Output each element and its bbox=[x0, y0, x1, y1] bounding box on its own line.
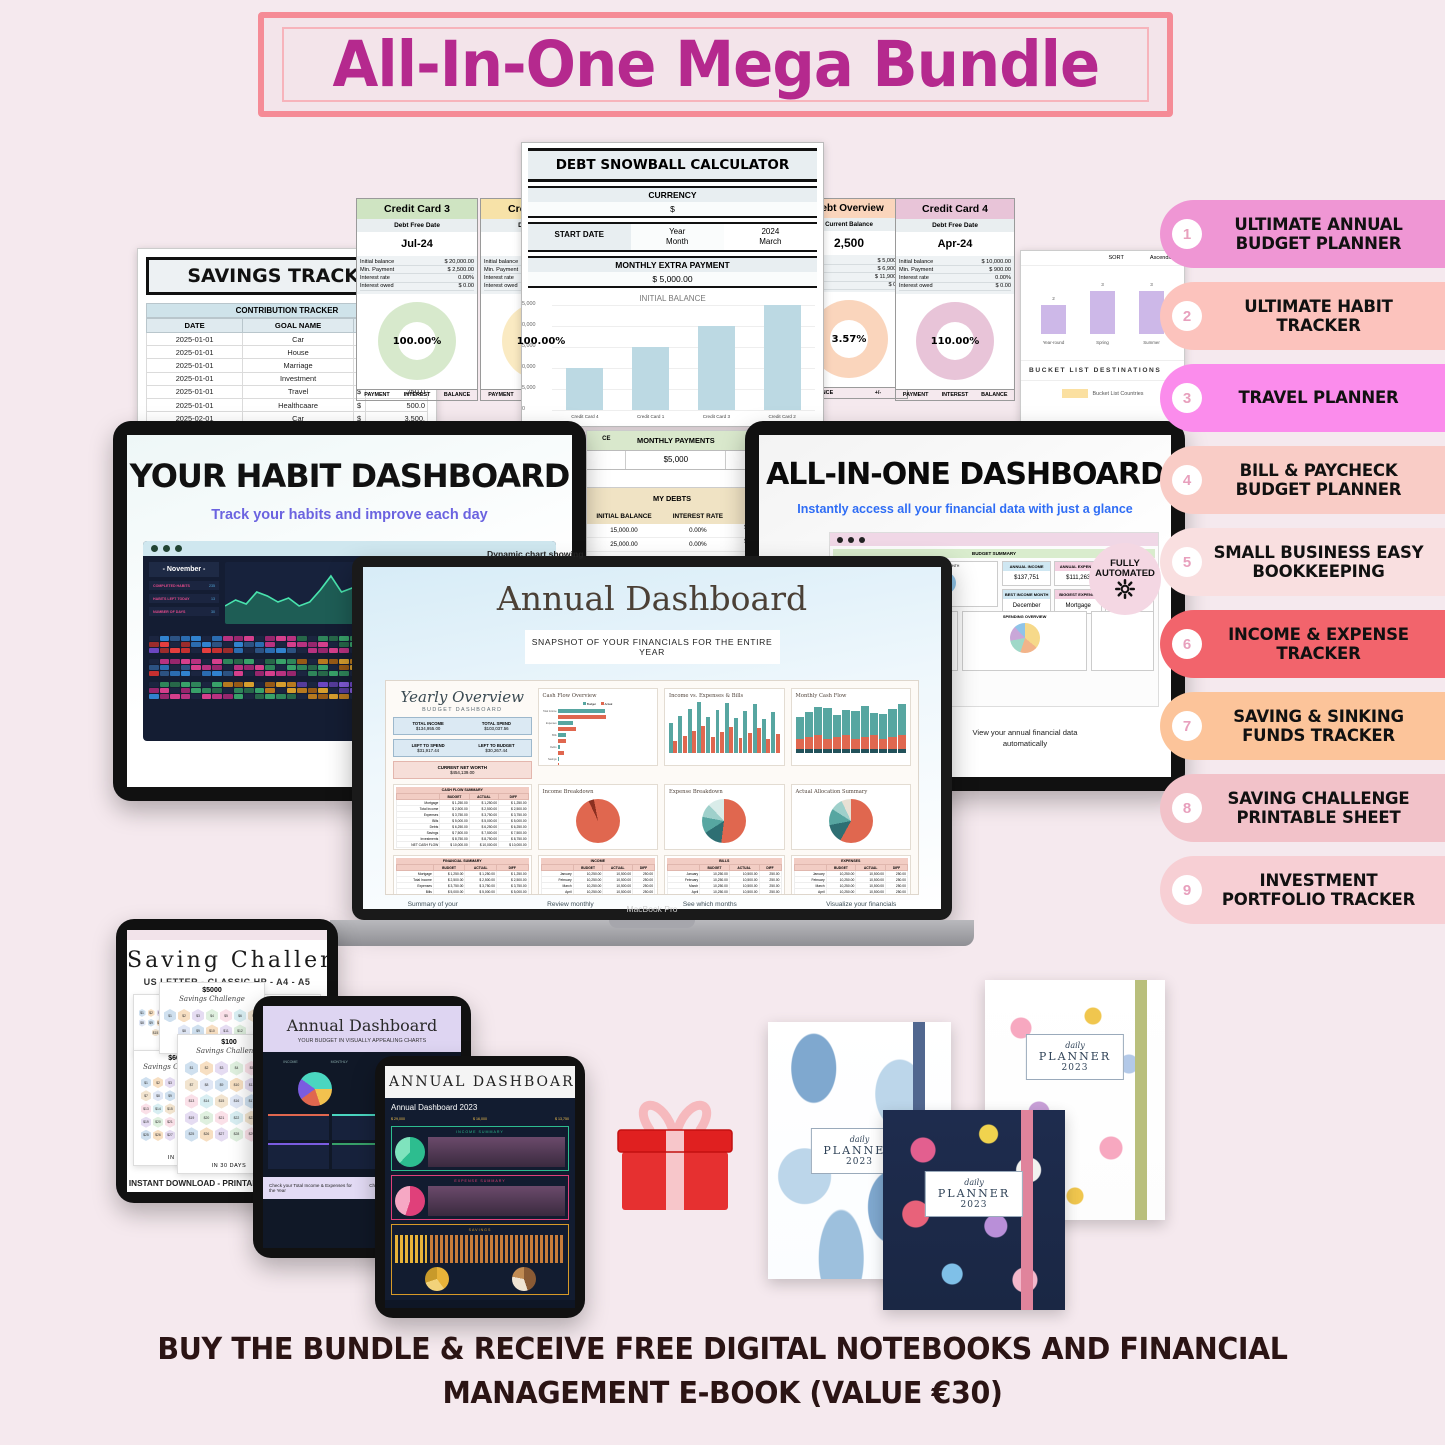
seg-income bbox=[842, 710, 850, 735]
kpi-total-spend-value: $103,037.56 bbox=[484, 726, 508, 731]
cell: $ 5,000.00 bbox=[465, 889, 497, 895]
product-item-8[interactable]: 8SAVING CHALLENGE PRINTABLE SHEET bbox=[1160, 774, 1445, 842]
saving-challenge-title: Saving Challenge bbox=[127, 948, 327, 973]
bar-expense bbox=[757, 728, 761, 753]
notebook-white-label: daily PLANNER 2023 bbox=[1026, 1034, 1124, 1080]
seg-income bbox=[870, 713, 878, 735]
bar-income bbox=[762, 719, 766, 753]
heatmap-cell bbox=[329, 682, 339, 687]
heatmap-cell bbox=[339, 694, 349, 699]
heatmap-cell bbox=[202, 694, 212, 699]
heatmap-cell bbox=[234, 659, 244, 664]
cc-detail-label: Interest owed bbox=[360, 283, 394, 289]
seg-debt bbox=[898, 749, 906, 753]
heatmap-cell bbox=[212, 636, 222, 641]
product-label-4: BILL & PAYCHECK BUDGET PLANNER bbox=[1212, 461, 1431, 500]
heatmap-cell bbox=[339, 642, 349, 647]
heatmap-cell bbox=[212, 648, 222, 653]
bucket-legend-label: Bucket List Countries bbox=[1093, 391, 1144, 397]
heatmap-cell bbox=[308, 671, 318, 676]
heatmap-cell bbox=[265, 688, 275, 693]
cc-detail-label: Interest owed bbox=[899, 283, 933, 289]
hex-cell: $8 bbox=[200, 1078, 213, 1093]
habit-stat-2: HABITS LEFT TODAY13 bbox=[149, 594, 219, 603]
product-tab-shadow bbox=[1138, 213, 1168, 255]
aio-dot-2 bbox=[848, 537, 854, 543]
cc-detail-label: Min. Payment bbox=[899, 267, 933, 273]
hex-cell: $27 bbox=[215, 1127, 228, 1142]
bar-expense bbox=[729, 727, 733, 753]
cc4-donut: 110.00% bbox=[916, 302, 994, 380]
gridline: 0 bbox=[552, 410, 815, 411]
stacked-bar bbox=[823, 708, 831, 753]
hbar-label: Expenses bbox=[543, 722, 557, 725]
sheet-5000-label: Savings Challenge bbox=[160, 995, 264, 1003]
monthly-payments-value: $5,000 bbox=[626, 451, 726, 469]
heatmap-cell bbox=[276, 688, 286, 693]
bar-expense bbox=[766, 739, 770, 753]
cc4-percent: 110.00% bbox=[931, 336, 980, 347]
bar: Credit Card 2 bbox=[764, 305, 801, 410]
habit-bar: 2Year-round bbox=[1041, 305, 1066, 334]
heatmap-cell bbox=[149, 682, 159, 687]
initial-balance-col: INITIAL BALANCE bbox=[587, 509, 661, 524]
bar-income bbox=[678, 716, 682, 753]
product-item-2[interactable]: 2ULTIMATE HABIT TRACKER bbox=[1160, 282, 1445, 350]
heatmap-cell bbox=[234, 636, 244, 641]
heatmap-cell bbox=[191, 648, 201, 653]
cc-detail-row: Min. Payment$ 900.00 bbox=[899, 266, 1011, 274]
cc-detail-value: $ 10,000.00 bbox=[981, 259, 1011, 265]
my-debts-rows: 15,000.000.00%$25,000.000.00%$ bbox=[587, 524, 757, 552]
product-item-4[interactable]: 4BILL & PAYCHECK BUDGET PLANNER bbox=[1160, 446, 1445, 514]
product-label-6: INCOME & EXPENSE TRACKER bbox=[1212, 625, 1431, 664]
bar-income bbox=[771, 712, 775, 753]
heatmap-cell bbox=[244, 648, 254, 653]
aio-window-titlebar bbox=[830, 533, 1158, 546]
hex-cell: $1 bbox=[164, 1009, 176, 1022]
seg-income bbox=[814, 707, 822, 735]
nb2-brand: daily bbox=[938, 1178, 1010, 1187]
heatmap-cell bbox=[297, 682, 307, 687]
cc3-payment-col: PAYMENT bbox=[357, 390, 397, 400]
product-item-7[interactable]: 7SAVING & SINKING FUNDS TRACKER bbox=[1160, 692, 1445, 760]
heatmap-cell bbox=[234, 642, 244, 647]
cell-goal: House bbox=[243, 346, 354, 359]
cell-goal: Car bbox=[243, 333, 354, 346]
hex-cell: $15 bbox=[152, 1029, 159, 1037]
heatmap-cell bbox=[308, 688, 318, 693]
hex-cell: $9 bbox=[165, 1090, 175, 1101]
heatmap-cell bbox=[287, 648, 297, 653]
hex-cell: $26 bbox=[200, 1127, 213, 1142]
hex-cell: $10 bbox=[230, 1078, 243, 1093]
dark-tile bbox=[268, 1114, 329, 1140]
window-dot-yellow bbox=[163, 545, 170, 552]
cc-detail-label: Min. Payment bbox=[360, 267, 394, 273]
panel-cash-flow-overview: Cash Flow Overview Budget ActualTotal In… bbox=[538, 688, 658, 766]
panel-expense-breakdown: Expense Breakdown bbox=[664, 784, 784, 850]
heatmap-cell bbox=[191, 694, 201, 699]
product-number-2: 2 bbox=[1172, 301, 1202, 331]
cc-detail-label: Interest rate bbox=[484, 275, 514, 281]
page-title: All-In-One Mega Bundle bbox=[332, 28, 1099, 101]
bar-expense bbox=[720, 732, 724, 753]
dark-tile bbox=[268, 1143, 329, 1169]
dark-tablet-1-head: Annual Dashboard YOUR BUDGET IN VISUALLY… bbox=[263, 1006, 461, 1052]
heatmap-cell bbox=[149, 642, 159, 647]
credit-card-3: Credit Card 3 Debt Free Date Jul-24 Init… bbox=[356, 198, 478, 401]
dk1-kpi-2: MONTHLY bbox=[331, 1060, 348, 1064]
heatmap-cell bbox=[170, 682, 180, 687]
heatmap-cell bbox=[202, 682, 212, 687]
cell: $ 10,000.00 bbox=[499, 842, 528, 848]
habit-dashboard-title: YOUR HABIT DASHBOARD bbox=[127, 457, 572, 495]
heatmap-cell bbox=[297, 688, 307, 693]
heatmap-cell bbox=[223, 648, 233, 653]
bar-income bbox=[688, 709, 692, 753]
currency-value[interactable]: $ bbox=[528, 202, 817, 216]
seg-expense bbox=[842, 735, 850, 749]
month-value[interactable]: March bbox=[724, 237, 817, 247]
dk2-savings-bars bbox=[395, 1235, 427, 1263]
heatmap-cell bbox=[329, 688, 339, 693]
seg-income bbox=[888, 709, 896, 737]
heatmap-cell bbox=[297, 648, 307, 653]
cc4-pay-header: PAYMENT INTEREST BALANCE bbox=[895, 390, 1015, 401]
year-month-labels: Year Month bbox=[631, 224, 724, 250]
seg-income bbox=[823, 708, 831, 739]
macbook-screen: Annual Dashboard SNAPSHOT OF YOUR FINANC… bbox=[363, 567, 941, 909]
product-item-1[interactable]: 1ULTIMATE ANNUAL BUDGET PLANNER bbox=[1160, 200, 1445, 268]
col-goal: GOAL NAME bbox=[243, 319, 354, 333]
bar-expense bbox=[776, 734, 780, 753]
heatmap-cell bbox=[223, 688, 233, 693]
heatmap-cell bbox=[318, 642, 328, 647]
heatmap-cell bbox=[223, 694, 233, 699]
heatmap-cell bbox=[170, 642, 180, 647]
hex-cell: $7 bbox=[141, 1090, 151, 1101]
heatmap-cell bbox=[318, 659, 328, 664]
heatmap-cell bbox=[255, 648, 265, 653]
heatmap-cell bbox=[339, 648, 349, 653]
debt-interest-rate: 0.00% bbox=[661, 538, 735, 551]
bar-group bbox=[753, 704, 761, 753]
panel-allocation-title: Actual Allocation Summary bbox=[796, 789, 906, 795]
heatmap-cell bbox=[170, 665, 180, 670]
heatmap-cell bbox=[223, 642, 233, 647]
heatmap-cell bbox=[191, 659, 201, 664]
annual-dashboard-sheet: Yearly Overview BUDGET DASHBOARD TOTAL I… bbox=[385, 680, 919, 895]
seg-income bbox=[805, 712, 813, 737]
cash-flow-summary-table: CASH FLOW SUMMARY BUDGETACTUALDIFFMortga… bbox=[393, 784, 532, 850]
extra-payment-band: MONTHLY EXTRA PAYMENT $ 5,000.00 bbox=[528, 256, 817, 288]
heatmap-cell bbox=[329, 648, 339, 653]
dk2-kpi: $ 16,000 bbox=[473, 1117, 487, 1121]
hex-cell: $20 bbox=[200, 1111, 213, 1126]
product-list: 1ULTIMATE ANNUAL BUDGET PLANNER2ULTIMATE… bbox=[1160, 200, 1445, 938]
heatmap-cell bbox=[318, 665, 328, 670]
heatmap-cell bbox=[170, 671, 180, 676]
heatmap-cell bbox=[276, 682, 286, 687]
heatmap-cell bbox=[276, 659, 286, 664]
cc-detail-row: Initial balance$ 20,000.00 bbox=[360, 258, 474, 266]
heatmap-cell bbox=[255, 665, 265, 670]
bucket-legend-swatch bbox=[1062, 389, 1088, 398]
dk2-income-area bbox=[428, 1137, 565, 1167]
cell-date: 2025-01-01 bbox=[147, 385, 243, 398]
panel-actual-allocation: Actual Allocation Summary bbox=[791, 784, 911, 850]
heatmap-cell bbox=[297, 636, 307, 641]
stacked-bar bbox=[814, 707, 822, 753]
cell: Bills bbox=[397, 889, 434, 895]
heatmap-cell bbox=[160, 688, 170, 693]
hex-cell: $19 bbox=[141, 1117, 151, 1128]
cc4-sub: Debt Free Date bbox=[896, 219, 1014, 232]
heatmap-cell bbox=[202, 659, 212, 664]
heatmap-cell bbox=[244, 694, 254, 699]
heatmap-cell bbox=[339, 659, 349, 664]
cell: $ 5,000.00 bbox=[496, 889, 528, 895]
hex-cell: $27 bbox=[165, 1130, 175, 1141]
hex-cell: $21 bbox=[165, 1117, 175, 1128]
heatmap-cell bbox=[212, 665, 222, 670]
balance-col-label: CE bbox=[587, 431, 626, 450]
heatmap-cell bbox=[212, 659, 222, 664]
product-item-3[interactable]: 3TRAVEL PLANNER bbox=[1160, 364, 1445, 432]
heatmap-cell bbox=[244, 659, 254, 664]
seg-income bbox=[851, 711, 859, 739]
heatmap-cell bbox=[223, 682, 233, 687]
bar: Credit Card 4 bbox=[566, 368, 603, 410]
nb2-name: PLANNER bbox=[938, 1187, 1010, 1200]
annual-dashboard-title: Annual Dashboard bbox=[363, 579, 941, 618]
heatmap-cell bbox=[181, 642, 191, 647]
kpi-row-2: LEFT TO SPEND$31,917.44 LEFT TO BUDGET$3… bbox=[393, 739, 532, 757]
hex-cell: $13 bbox=[141, 1103, 151, 1114]
heatmap-cell bbox=[318, 648, 328, 653]
heatmap-cell bbox=[255, 671, 265, 676]
panel-income-vs-expenses: Income vs. Expenses & Bills bbox=[664, 688, 784, 766]
heatmap-cell bbox=[308, 642, 318, 647]
panel-monthly-cf-title: Monthly Cash Flow bbox=[796, 693, 906, 699]
heatmap-cell bbox=[308, 682, 318, 687]
heatmap-cell bbox=[318, 636, 328, 641]
heatmap-cell bbox=[181, 694, 191, 699]
heatmap-cell bbox=[234, 671, 244, 676]
bar-income bbox=[706, 717, 710, 753]
habit-dashboard-subtitle: Track your habits and improve each day bbox=[127, 507, 572, 523]
initial-balance-chart: 5,0000,0005,0000,0005,0000Credit Card 4C… bbox=[552, 305, 815, 410]
year-value[interactable]: 2024 bbox=[724, 227, 817, 237]
bar-group bbox=[706, 717, 714, 753]
product-item-5[interactable]: 5SMALL BUSINESS EASY BOOKKEEPING bbox=[1160, 528, 1445, 596]
dk2-pie-1 bbox=[425, 1267, 449, 1291]
bar-group bbox=[762, 719, 770, 753]
heatmap-cell bbox=[234, 665, 244, 670]
product-label-2: ULTIMATE HABIT TRACKER bbox=[1212, 297, 1431, 336]
expenses-table: EXPENSES BUDGETACTUALDIFFJanuary10,250.0… bbox=[791, 855, 911, 895]
product-item-9[interactable]: 9INVESTMENT PORTFOLIO TRACKER bbox=[1160, 856, 1445, 924]
hex-cell: $5 bbox=[220, 1009, 232, 1022]
macbook-body: Annual Dashboard SNAPSHOT OF YOUR FINANC… bbox=[352, 556, 952, 920]
col-date: DATE bbox=[147, 319, 243, 333]
heatmap-cell bbox=[149, 665, 159, 670]
cc-detail-row: Initial balance$ 10,000.00 bbox=[899, 258, 1011, 266]
heatmap-cell bbox=[181, 636, 191, 641]
heatmap-cell bbox=[329, 636, 339, 641]
kpi-left-to-spend: LEFT TO SPEND$31,917.44 bbox=[394, 740, 462, 756]
panel-monthly-cash-flow: Monthly Cash Flow bbox=[791, 688, 911, 766]
hbar-label: Debts bbox=[543, 746, 557, 749]
seg-expense bbox=[805, 737, 813, 749]
heatmap-cell bbox=[181, 665, 191, 670]
heatmap-cell bbox=[212, 671, 222, 676]
hex-cell: $9 bbox=[215, 1078, 228, 1093]
seg-expense bbox=[814, 735, 822, 749]
year-month-values[interactable]: 2024 March bbox=[724, 224, 817, 250]
heatmap-cell bbox=[255, 694, 265, 699]
heatmap-cell bbox=[297, 671, 307, 676]
heatmap-cell bbox=[223, 665, 233, 670]
seg-debt bbox=[796, 749, 804, 753]
seg-debt bbox=[870, 749, 878, 753]
seg-debt bbox=[823, 749, 831, 753]
hbar-label: Bills bbox=[543, 734, 557, 737]
heatmap-cell bbox=[181, 688, 191, 693]
heatmap-cell bbox=[339, 671, 349, 676]
seg-expense bbox=[851, 739, 859, 749]
heatmap-cell bbox=[212, 642, 222, 647]
hex-cell: $2 bbox=[178, 1009, 190, 1022]
heatmap-cell bbox=[244, 688, 254, 693]
fully-automated-badge: FULLY AUTOMATED bbox=[1089, 543, 1161, 615]
cell: $ 10,000.00 bbox=[440, 842, 469, 848]
seg-expense bbox=[823, 739, 831, 749]
product-label-3: TRAVEL PLANNER bbox=[1212, 388, 1431, 407]
cell-goal: Healthcaare bbox=[243, 398, 354, 411]
aio-dot-3 bbox=[859, 537, 865, 543]
bar-group bbox=[688, 709, 696, 753]
dark-tablet-1-title: Annual Dashboard bbox=[269, 1016, 455, 1035]
product-number-7: 7 bbox=[1172, 711, 1202, 741]
product-number-8: 8 bbox=[1172, 793, 1202, 823]
extra-payment-value[interactable]: $ 5,000.00 bbox=[528, 272, 817, 286]
y-tick-label: 0,000 bbox=[522, 322, 536, 328]
heatmap-cell bbox=[149, 671, 159, 676]
bar-group bbox=[743, 711, 751, 753]
cell-date: 2025-01-01 bbox=[147, 398, 243, 411]
dk2-pie-2 bbox=[512, 1267, 536, 1291]
heatmap-cell bbox=[329, 665, 339, 670]
cc3-sub: Debt Free Date bbox=[357, 219, 477, 232]
product-item-6[interactable]: 6INCOME & EXPENSE TRACKER bbox=[1160, 610, 1445, 678]
dk2-savings-bars-2 bbox=[430, 1235, 565, 1263]
bar-expense bbox=[692, 731, 696, 753]
table-row: Bills$ 5,000.00$ 5,000.00$ 5,000.00 bbox=[397, 889, 529, 895]
hex-cell: $22 bbox=[230, 1111, 243, 1126]
cc-detail-row: Interest owed$ 0.00 bbox=[360, 283, 474, 291]
product-label-5: SMALL BUSINESS EASY BOOKKEEPING bbox=[1212, 543, 1431, 582]
cc4-name: Credit Card 4 bbox=[896, 199, 1014, 219]
cell: $ 5,000.00 bbox=[433, 889, 465, 895]
heatmap-cell bbox=[276, 694, 286, 699]
aio-note-right: View your annual financial data automati… bbox=[965, 728, 1085, 749]
hbar-actual bbox=[558, 739, 566, 743]
cc4-balance-col: BALANCE bbox=[975, 390, 1014, 400]
heatmap-cell bbox=[149, 659, 159, 664]
heatmap-cell bbox=[191, 682, 201, 687]
heatmap-cell bbox=[149, 648, 159, 653]
hex-cell: $28 bbox=[230, 1127, 243, 1142]
heatmap-cell bbox=[191, 665, 201, 670]
aio-dot-1 bbox=[837, 537, 843, 543]
heatmap-cell bbox=[160, 665, 170, 670]
bar-income bbox=[697, 702, 701, 753]
heatmap-cell bbox=[212, 682, 222, 687]
cc4-payment-col: PAYMENT bbox=[896, 390, 935, 400]
dk2-savings-section: SAVINGS bbox=[395, 1228, 565, 1232]
dark-tablet-1-subtitle: YOUR BUDGET IN VISUALLY APPEALING CHARTS bbox=[269, 1038, 455, 1044]
cell: NET CASH FLOW bbox=[397, 842, 440, 848]
heatmap-cell bbox=[255, 659, 265, 664]
product-number-1: 1 bbox=[1172, 219, 1202, 249]
bar-group bbox=[716, 710, 724, 753]
bar-expense bbox=[739, 738, 743, 753]
nb3-year: 2023 bbox=[1039, 1063, 1111, 1073]
heatmap-cell bbox=[329, 671, 339, 676]
heatmap-cell bbox=[170, 688, 180, 693]
dark-annual-dashboard-tablet-2: ANNUAL DASHBOARD Annual Dashboard 2023 $… bbox=[375, 1056, 585, 1318]
seg-expense bbox=[879, 739, 887, 749]
cc-detail-label: Interest rate bbox=[899, 275, 929, 281]
kpi-row-1: TOTAL INCOME$134,955.00 TOTAL SPEND$103,… bbox=[393, 717, 532, 735]
stacked-bar bbox=[888, 709, 896, 753]
hbar-budget bbox=[558, 709, 605, 713]
heatmap-cell bbox=[276, 671, 286, 676]
cc-detail-value: $ 0.00 bbox=[995, 283, 1011, 289]
heatmap-cell bbox=[287, 665, 297, 670]
heatmap-cell bbox=[234, 688, 244, 693]
stacked-bar bbox=[879, 714, 887, 753]
bar-expense bbox=[673, 741, 677, 753]
notebook-white-band bbox=[1135, 980, 1147, 1220]
hex-cell: $15 bbox=[165, 1103, 175, 1114]
initial-balance-chart-title: INITIAL BALANCE bbox=[522, 294, 823, 303]
aio-kpi-label: BEST INCOME MONTH bbox=[1003, 590, 1050, 599]
product-number-6: 6 bbox=[1172, 629, 1202, 659]
habit-mini-chart: 2Year-round3Spring3Summer bbox=[1029, 276, 1176, 346]
stacked-bar bbox=[833, 715, 841, 753]
income-breakdown-pie bbox=[576, 799, 620, 843]
seg-expense bbox=[861, 737, 869, 749]
hex-cell: $19 bbox=[185, 1111, 198, 1126]
seg-debt bbox=[814, 749, 822, 753]
cell-date: 2025-01-01 bbox=[147, 359, 243, 372]
bar-group bbox=[725, 703, 733, 753]
bar: Credit Card 1 bbox=[632, 347, 669, 410]
cc-detail-label: Interest rate bbox=[360, 275, 390, 281]
heatmap-cell bbox=[255, 688, 265, 693]
heatmap-cell bbox=[339, 665, 349, 670]
caption-line-1: BUY THE BUNDLE & RECEIVE FREE DIGITAL NO… bbox=[36, 1328, 1409, 1372]
seg-expense bbox=[888, 737, 896, 749]
cc-detail-label: Initial balance bbox=[899, 259, 933, 265]
cc-detail-value: $ 900.00 bbox=[989, 267, 1011, 273]
notebook-navy-floral: daily PLANNER 2023 bbox=[883, 1110, 1065, 1310]
heatmap-cell bbox=[160, 659, 170, 664]
footnote-2: Review monthly bbox=[547, 901, 594, 908]
